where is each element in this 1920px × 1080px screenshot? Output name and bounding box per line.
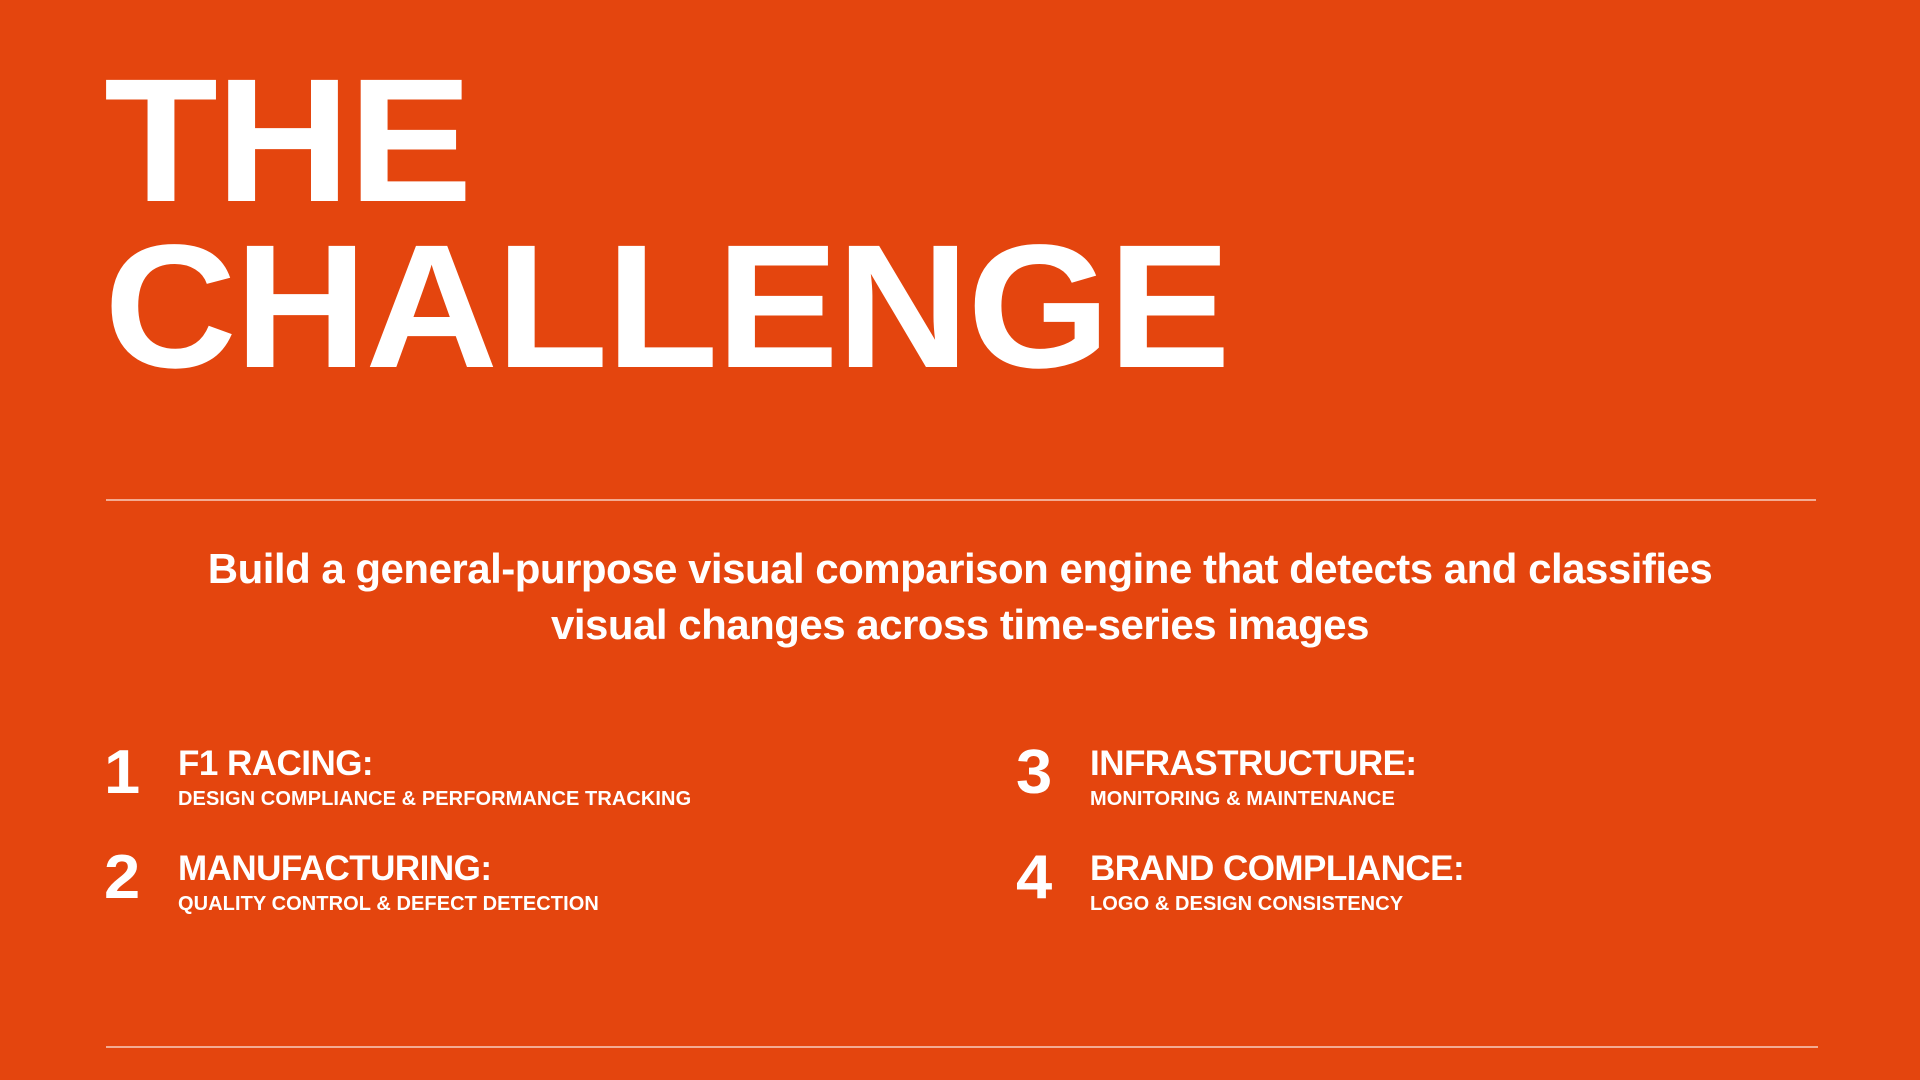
list-item: 4 BRAND COMPLIANCE: LOGO & DESIGN CONSIS… [1010, 847, 1820, 916]
item-number: 4 [1016, 849, 1071, 908]
item-title: INFRASTRUCTURE: [1090, 745, 1417, 783]
list-item: 3 INFRASTRUCTURE: MONITORING & MAINTENAN… [1010, 742, 1820, 811]
item-title: F1 RACING: [178, 745, 691, 783]
slide-root: THE CHALLENGE Build a general-purpose vi… [0, 0, 1920, 1080]
headline-line-2: CHALLENGE [104, 234, 1901, 382]
divider-bottom [106, 1046, 1818, 1048]
subtitle-text: Build a general-purpose visual compariso… [150, 541, 1770, 653]
list-item: 2 MANUFACTURING: QUALITY CONTROL & DEFEC… [104, 847, 914, 916]
list-item: 1 F1 RACING: DESIGN COMPLIANCE & PERFORM… [104, 742, 914, 811]
challenge-item-list: 1 F1 RACING: DESIGN COMPLIANCE & PERFORM… [104, 742, 1820, 916]
item-title: BRAND COMPLIANCE: [1090, 850, 1464, 888]
item-number: 1 [104, 744, 159, 803]
headline-line-1: THE [104, 68, 1920, 216]
item-subtitle: LOGO & DESIGN CONSISTENCY [1090, 892, 1464, 916]
item-body: INFRASTRUCTURE: MONITORING & MAINTENANCE [1090, 742, 1417, 811]
item-number: 3 [1016, 744, 1071, 803]
item-body: MANUFACTURING: QUALITY CONTROL & DEFECT … [178, 847, 599, 916]
item-subtitle: DESIGN COMPLIANCE & PERFORMANCE TRACKING [178, 787, 691, 811]
item-subtitle: MONITORING & MAINTENANCE [1090, 787, 1417, 811]
item-number: 2 [104, 849, 159, 908]
item-body: F1 RACING: DESIGN COMPLIANCE & PERFORMAN… [178, 742, 691, 811]
item-body: BRAND COMPLIANCE: LOGO & DESIGN CONSISTE… [1090, 847, 1464, 916]
item-title: MANUFACTURING: [178, 850, 599, 888]
divider-top [106, 499, 1816, 501]
page-title: THE CHALLENGE [104, 68, 1824, 382]
item-subtitle: QUALITY CONTROL & DEFECT DETECTION [178, 892, 599, 916]
